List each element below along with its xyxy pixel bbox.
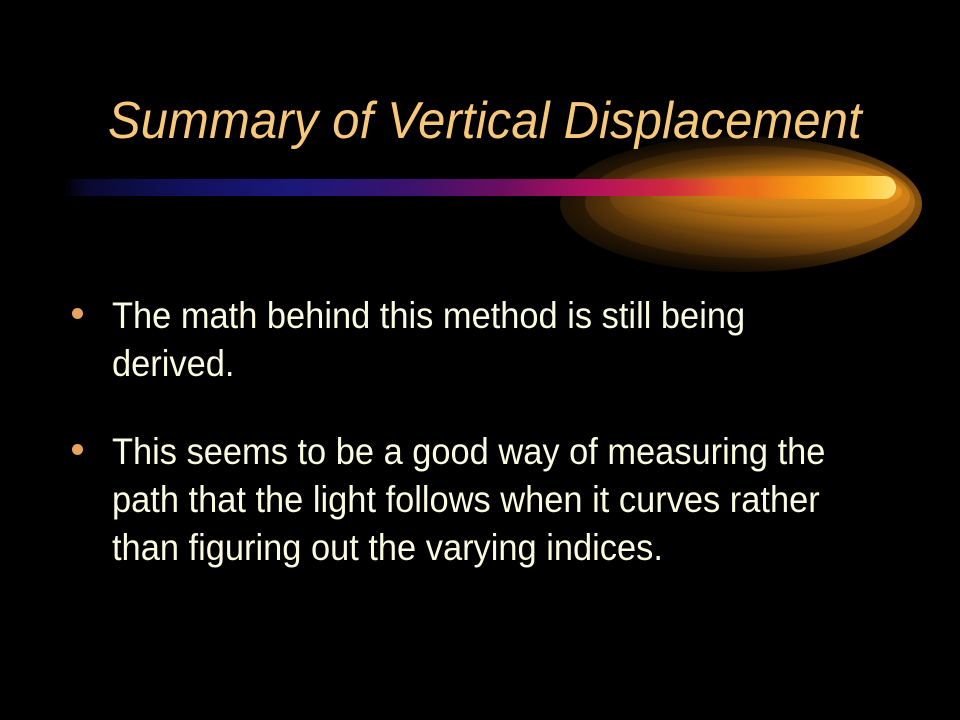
comet-halo-mid xyxy=(585,146,915,258)
color-streak-bar xyxy=(62,179,882,196)
bullet-dot-icon xyxy=(72,444,83,455)
slide-body: The math behind this method is still bei… xyxy=(72,292,902,572)
presentation-slide: Summary of Vertical Displacement The mat… xyxy=(0,0,960,720)
bullet-text: This seems to be a good way of measuring… xyxy=(112,428,847,572)
list-item: The math behind this method is still bei… xyxy=(72,292,902,388)
bullet-dot-icon xyxy=(72,308,83,319)
comet-halo-inner xyxy=(610,155,910,239)
list-item: This seems to be a good way of measuring… xyxy=(72,428,902,572)
comet-core-highlight xyxy=(700,176,896,199)
bullet-text: The math behind this method is still bei… xyxy=(112,292,847,388)
slide-title: Summary of Vertical Displacement xyxy=(108,92,860,150)
comet-halo-core-glow xyxy=(650,166,902,218)
comet-halo-outer xyxy=(560,136,922,272)
